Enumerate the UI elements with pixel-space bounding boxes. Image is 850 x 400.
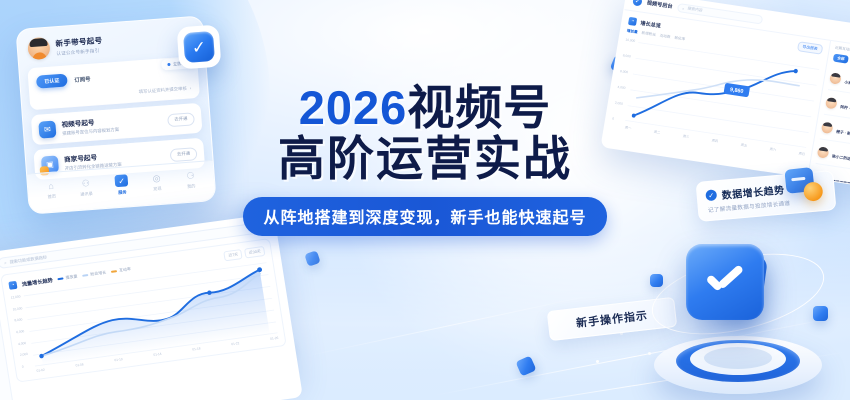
x-tick: 01-02 <box>36 368 45 373</box>
legend-swatch <box>58 278 64 280</box>
check-app-icon: ✓ <box>177 25 222 70</box>
legend-label: 播放量 <box>65 274 78 282</box>
tab-conversion[interactable]: 转化率 <box>674 36 685 43</box>
coin-shape <box>803 181 824 202</box>
hero-line-1: 2026视频号 <box>0 84 850 132</box>
hero-brand: 视频号 <box>407 81 551 134</box>
check-badge-3d <box>636 228 836 400</box>
y-tick: 6,000 <box>16 329 26 334</box>
x-tick: 01-22 <box>231 341 240 346</box>
x-tick: 01-10 <box>114 357 123 362</box>
search-icon: ⌕ <box>682 6 685 10</box>
legend-entry[interactable]: 粉丝增长 <box>82 270 107 279</box>
check-icon <box>705 269 745 295</box>
tab-plays[interactable]: 播放量 <box>626 29 637 36</box>
phone-account-name: 新手带号起号 <box>55 34 102 48</box>
y-tick: 0 <box>21 363 31 368</box>
legend-entry[interactable]: 播放量 <box>57 274 78 283</box>
info-dot-icon <box>168 63 171 66</box>
badge-tip-title: 数据增长趋势 <box>721 181 785 201</box>
trend-icon: ◔ <box>628 17 637 26</box>
y-tick: 12,000 <box>11 294 21 299</box>
sidebar-item[interactable]: 商品橱窗 <box>0 393 13 400</box>
shield-check-icon: ✓ <box>632 0 642 7</box>
legend-swatch <box>111 270 117 272</box>
range-button-7d[interactable]: 近7天 <box>224 249 243 261</box>
avatar <box>829 72 842 84</box>
hero-line-2: 高阶运营实战 <box>0 134 850 183</box>
y-tick: 4,000 <box>18 340 28 345</box>
search-icon: ⌕ <box>4 260 7 265</box>
legend-label: 粉丝增长 <box>90 270 107 278</box>
x-tick: 01-06 <box>75 362 84 367</box>
user-avatar-icon <box>27 37 51 61</box>
segment-all[interactable]: 全部 <box>833 54 849 64</box>
phone-account-sub: 认证公众号新手指引 <box>56 47 103 56</box>
chart-title: 增长总览 <box>640 19 662 29</box>
chart-title: 流量增长趋势 <box>21 276 53 287</box>
search-placeholder: 搜索内容 <box>687 6 703 13</box>
tab-new-fans[interactable]: 新增粉丝 <box>641 31 656 38</box>
export-report-button[interactable]: 导出报表 <box>797 41 824 55</box>
range-button-30d[interactable]: 近30天 <box>244 246 265 259</box>
decorative-cube <box>650 274 663 287</box>
hero-subtitle-pill: 从阵地搭建到深度变现，新手也能快速起号 <box>243 197 606 236</box>
dashboard-logo-text: 视频号后台 <box>646 0 673 10</box>
check-card <box>686 244 764 320</box>
decorative-cube <box>813 306 828 321</box>
hero-year: 2026 <box>299 81 408 134</box>
search-placeholder: 搜索功能或数据指标 <box>9 254 47 265</box>
x-tick: 01-26 <box>270 336 279 341</box>
y-tick: 2,000 <box>20 352 30 357</box>
tab-interactions[interactable]: 互动数 <box>659 34 670 41</box>
y-tick: 6,000 <box>620 69 630 74</box>
sparkle-dot <box>596 360 599 363</box>
x-tick: 01-18 <box>192 346 201 351</box>
legend-swatch <box>82 274 88 276</box>
phone-account-type: 订阅号 <box>74 74 91 83</box>
check-circle-icon: ✓ <box>705 189 717 201</box>
banner-stage: 新手带号起号 认证公众号新手指引 立即查看 已认证 订阅号 填写认证资料并提交审… <box>0 0 850 400</box>
legend-entry[interactable]: 互动率 <box>111 266 132 275</box>
y-tick: 10,000 <box>625 38 635 43</box>
y-tick: 8,000 <box>623 53 633 58</box>
y-tick: 10,000 <box>12 306 22 311</box>
x-tick: 01-14 <box>153 352 162 357</box>
y-tick: 8,000 <box>14 317 24 322</box>
trend-icon: ◔ <box>8 281 17 290</box>
pedestal-ring-inner <box>704 347 772 369</box>
legend-label: 互动率 <box>119 266 132 274</box>
check-glyph: ✓ <box>191 38 206 56</box>
card-coin-icon <box>784 166 823 204</box>
